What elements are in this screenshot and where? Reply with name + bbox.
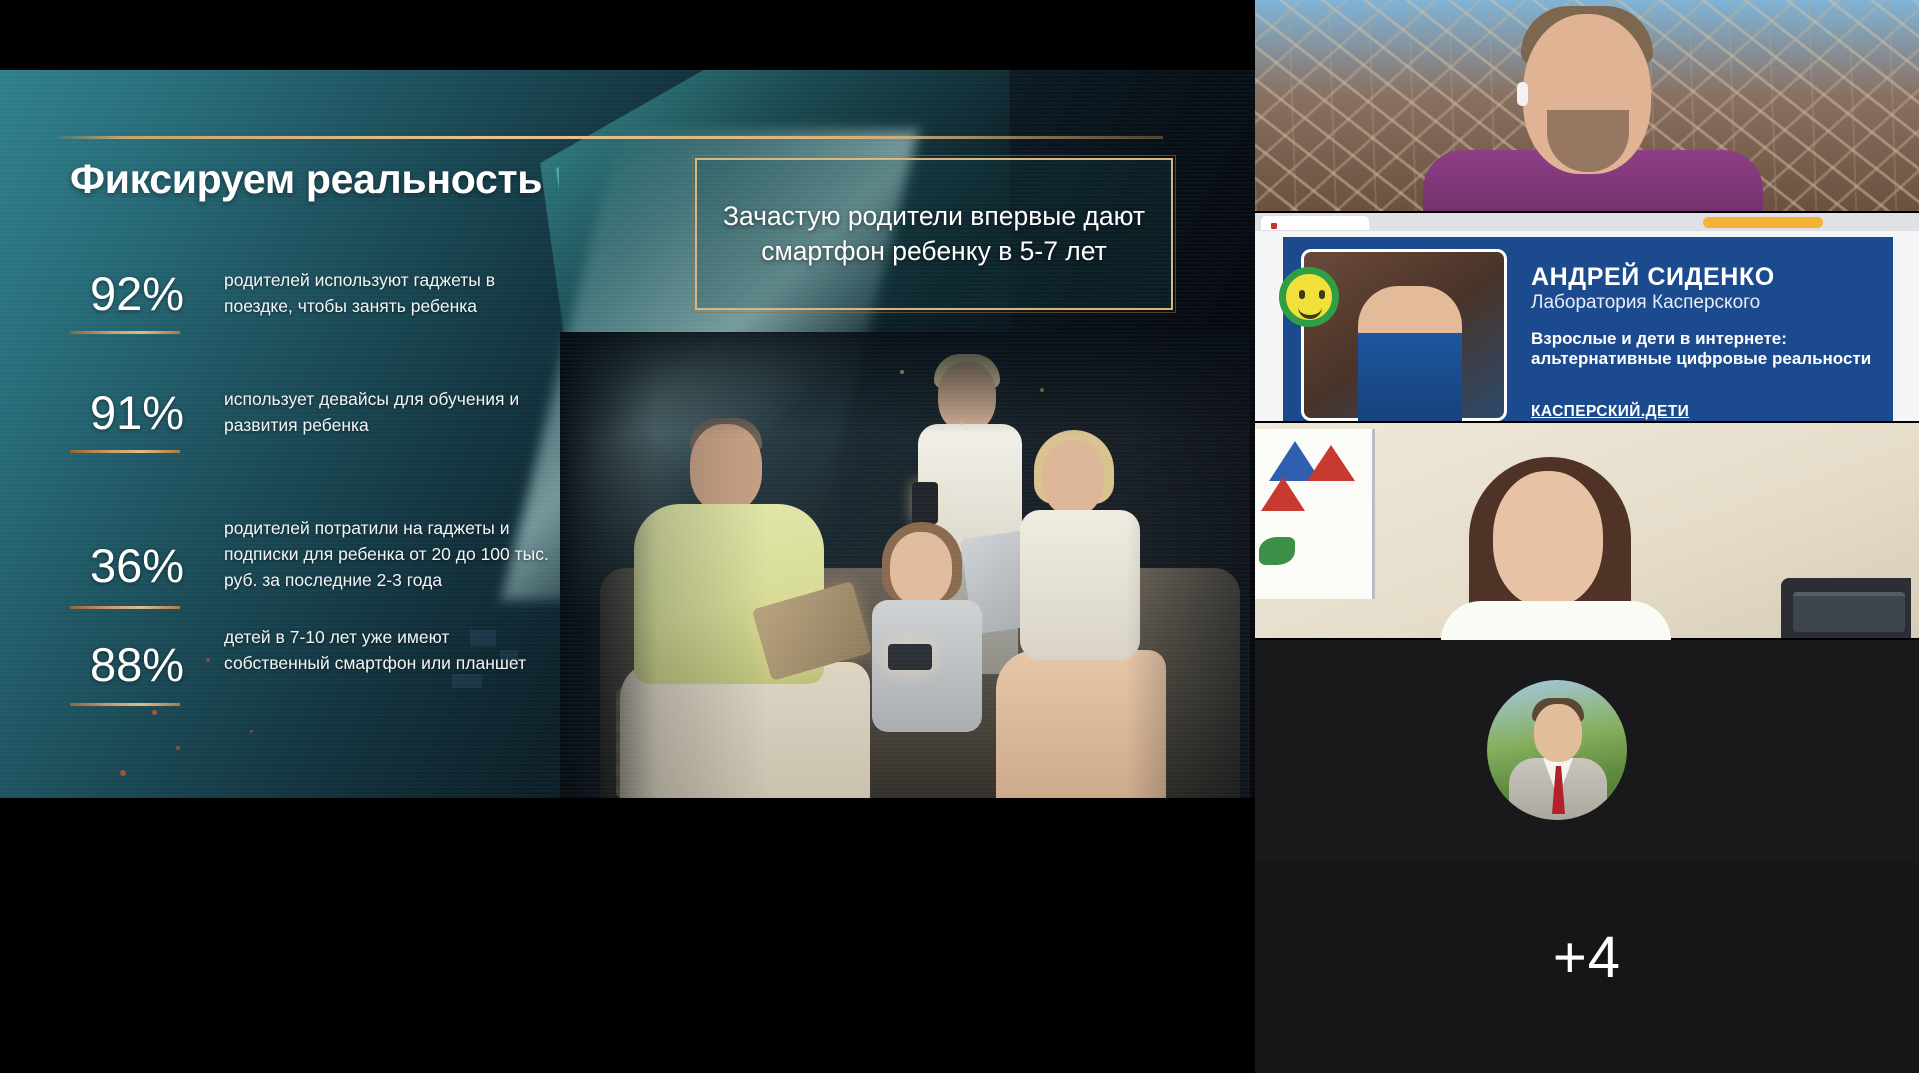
participant-tile-webcam-1[interactable] xyxy=(1255,0,1919,213)
stat-percent: 88% xyxy=(62,637,212,692)
ember-particle xyxy=(1040,388,1044,392)
stat-description: родителей потратили на гаджеты и подписк… xyxy=(224,516,554,594)
person-head xyxy=(1493,471,1603,607)
participant-tile-avatar[interactable]: +4 xyxy=(1255,640,1919,1073)
document-tray xyxy=(1793,592,1905,632)
ember-particle xyxy=(120,770,126,776)
speaker-portrait xyxy=(1358,286,1462,423)
speaker-org: Лаборатория Касперского xyxy=(1531,292,1760,314)
speaker-name: АНДРЕЙ СИДЕНКО xyxy=(1531,263,1775,292)
avatar xyxy=(1487,680,1627,820)
screen-share-area[interactable]: Фиксируем реальность xyxy=(0,0,1255,1073)
page-title: Фиксируем реальность xyxy=(70,156,542,203)
stat-description: детей в 7-10 лет уже имеют собственный с… xyxy=(224,625,554,677)
presentation-cover: АНДРЕЙ СИДЕНКО Лаборатория Касперского В… xyxy=(1283,237,1893,423)
browser-chrome-bar xyxy=(1255,213,1919,231)
stat-underline xyxy=(70,703,180,706)
stat-percent: 36% xyxy=(62,538,212,593)
stat-description: родителей используют гаджеты в поездке, … xyxy=(224,268,554,320)
title-divider xyxy=(58,136,1163,139)
participant-tile-webcam-2[interactable] xyxy=(1255,423,1919,640)
browser-page: АНДРЕЙ СИДЕНКО Лаборатория Касперского В… xyxy=(1255,231,1919,423)
presentation-slide: Фиксируем реальность xyxy=(0,70,1255,798)
paper-triangle-icon xyxy=(1261,477,1305,511)
plant-icon xyxy=(1259,537,1295,565)
earbud-icon xyxy=(1517,82,1528,106)
ember-particle xyxy=(176,746,180,750)
paper-triangle-icon xyxy=(1307,445,1355,481)
person-torso xyxy=(1441,601,1671,640)
stat-underline xyxy=(70,331,180,334)
smiley-icon xyxy=(1279,267,1339,327)
ember-particle xyxy=(250,730,253,733)
ember-particle xyxy=(900,370,904,374)
whiteboard xyxy=(1255,429,1375,599)
overflow-participants-count[interactable]: +4 xyxy=(1255,924,1919,991)
talk-title: Взрослые и дети в интернете: альтернатив… xyxy=(1531,329,1881,369)
stat-percent: 91% xyxy=(62,385,212,440)
kaspersky-kids-link[interactable]: КАСПЕРСКИЙ.ДЕТИ xyxy=(1531,403,1689,421)
avatar-head xyxy=(1534,704,1582,762)
video-conference-window: Фиксируем реальность xyxy=(0,0,1919,1073)
callout-box: Зачастую родители впервые дают смартфон … xyxy=(695,158,1173,310)
stat-underline xyxy=(70,606,180,609)
ember-particle xyxy=(152,710,157,715)
stat-description: использует девайсы для обучения и развит… xyxy=(224,387,554,439)
stat-underline xyxy=(70,450,180,453)
address-bar-pill[interactable] xyxy=(1703,217,1823,228)
browser-tab[interactable] xyxy=(1261,216,1369,230)
ember-particle xyxy=(960,422,963,425)
participant-sidebar: АНДРЕЙ СИДЕНКО Лаборатория Касперского В… xyxy=(1255,0,1919,1073)
family-photo xyxy=(560,332,1250,798)
speaker-photo xyxy=(1301,249,1507,421)
avatar-area xyxy=(1255,640,1919,862)
tab-favicon-icon xyxy=(1271,223,1277,229)
callout-text: Зачастую родители впервые дают смартфон … xyxy=(715,199,1153,269)
participant-tile-screen-share[interactable]: АНДРЕЙ СИДЕНКО Лаборатория Касперского В… xyxy=(1255,213,1919,423)
stat-percent: 92% xyxy=(62,266,212,321)
